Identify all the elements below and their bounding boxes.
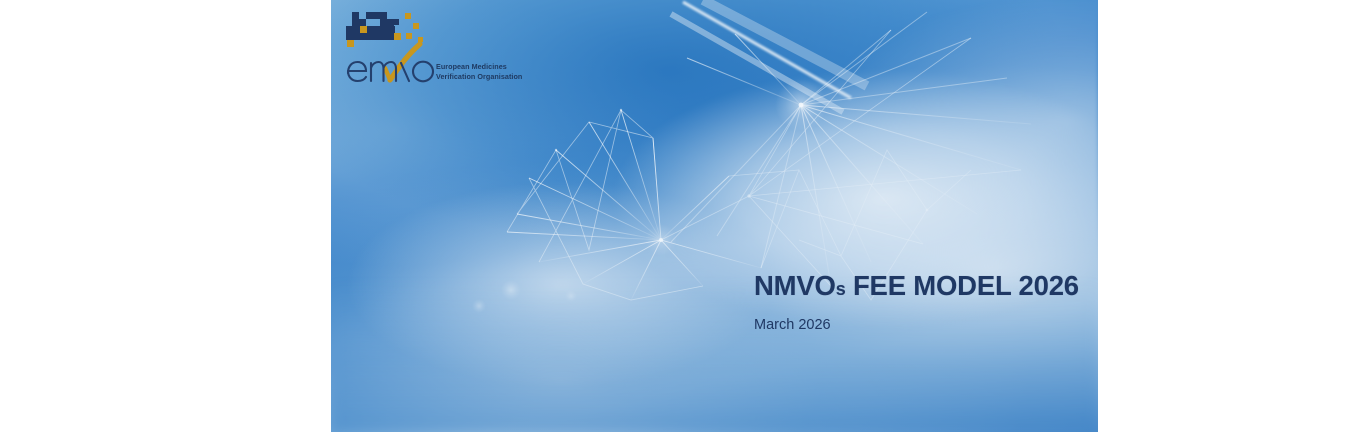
- emvo-logo: European Medicines Verification Organisa…: [344, 8, 530, 90]
- page-subtitle: March 2026: [754, 317, 1084, 334]
- logo-tagline-line2: Verification Organisation: [436, 72, 532, 82]
- page-title-plural-s: s: [836, 279, 846, 299]
- slide-page: European Medicines Verification Organisa…: [0, 0, 1360, 432]
- page-title-main: NMVO: [754, 270, 836, 301]
- logo-tagline-line1: European Medicines: [436, 62, 532, 72]
- title-block: NMVOs FEE MODEL 2026 March 2026: [754, 271, 1084, 334]
- title-slide: European Medicines Verification Organisa…: [331, 0, 1098, 432]
- logo-tagline: European Medicines Verification Organisa…: [436, 62, 532, 81]
- page-title: NMVOs FEE MODEL 2026: [754, 271, 1084, 304]
- emvo-wordmark: [344, 42, 436, 88]
- page-title-rest: FEE MODEL 2026: [846, 270, 1079, 301]
